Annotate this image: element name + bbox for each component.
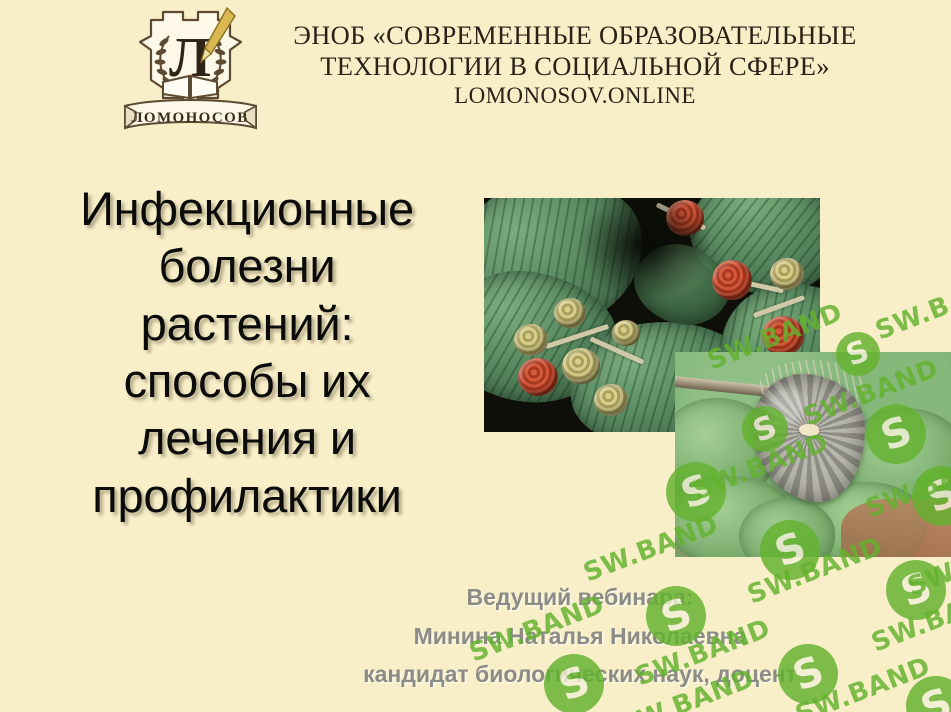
slide-root: Л ЛОМОНОСОВ ЭНОБ «СОВРЕМЕННЫЕ ОБРАЗОВАТЕ…	[0, 0, 951, 712]
slide-title: Инфекционные болезни растений: способы и…	[22, 180, 472, 524]
slide-header: Л ЛОМОНОСОВ ЭНОБ «СОВРЕМЕННЫЕ ОБРАЗОВАТЕ…	[0, 0, 951, 148]
title-line-1: Инфекционные	[22, 180, 472, 237]
header-line-1: ЭНОБ «СОВРЕМЕННЫЕ ОБРАЗОВАТЕЛЬНЫЕ	[255, 20, 895, 51]
watermark-text: SW.BAND	[871, 268, 951, 347]
title-line-4: способы их	[22, 352, 472, 409]
presenter-name: Минина Наталья Николаевна	[300, 617, 860, 656]
watermark-text: SW.BAND	[867, 580, 951, 659]
watermark-logo-icon: S	[886, 560, 946, 620]
header-title-block: ЭНОБ «СОВРЕМЕННЫЕ ОБРАЗОВАТЕЛЬНЫЕ ТЕХНОЛ…	[255, 20, 895, 110]
presenter-credentials: кандидат биологических наук, доцент	[300, 655, 860, 694]
presenter-label: Ведущий вебинара:	[300, 578, 860, 617]
header-line-2: ТЕХНОЛОГИИ В СОЦИАЛЬНОЙ СФЕРЕ»	[255, 51, 895, 82]
presenter-block: Ведущий вебинара: Минина Наталья Николае…	[300, 578, 860, 694]
crest-ribbon-text: ЛОМОНОСОВ	[131, 110, 248, 126]
header-site-url: LOMONOSOV.ONLINE	[255, 83, 895, 110]
grey-mould-on-plant-photo	[675, 352, 951, 557]
title-line-5: лечения и	[22, 409, 472, 466]
title-line-6: профилактики	[22, 467, 472, 524]
title-line-2: болезни	[22, 237, 472, 294]
title-line-3: растений:	[22, 295, 472, 352]
watermark-logo-icon: S	[906, 676, 951, 712]
lomonosov-crest-logo: Л ЛОМОНОСОВ	[123, 2, 258, 142]
